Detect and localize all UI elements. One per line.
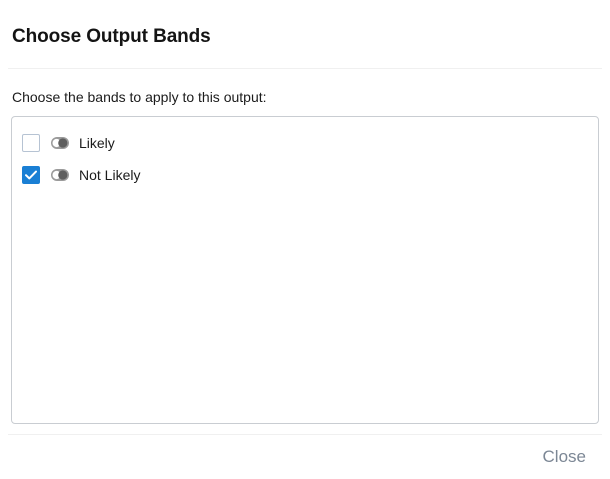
toggle-icon[interactable] <box>51 169 69 181</box>
list-item[interactable]: Likely <box>12 127 598 159</box>
instruction-text: Choose the bands to apply to this output… <box>11 69 599 116</box>
band-list[interactable]: Likely Not Likely <box>11 116 599 424</box>
list-item-label: Not Likely <box>79 166 140 184</box>
dialog-body: Choose the bands to apply to this output… <box>0 69 610 424</box>
page-title: Choose Output Bands <box>12 24 598 50</box>
dialog-footer: Close <box>0 435 610 479</box>
band-checkbox-likely[interactable] <box>22 134 40 152</box>
dialog-header: Choose Output Bands <box>0 0 610 50</box>
list-item[interactable]: Not Likely <box>12 159 598 191</box>
choose-output-bands-dialog: Choose Output Bands Choose the bands to … <box>0 0 610 479</box>
check-icon <box>25 170 37 180</box>
toggle-icon[interactable] <box>51 137 69 149</box>
close-button[interactable]: Close <box>537 442 592 472</box>
list-item-label: Likely <box>79 134 115 152</box>
band-checkbox-not-likely[interactable] <box>22 166 40 184</box>
